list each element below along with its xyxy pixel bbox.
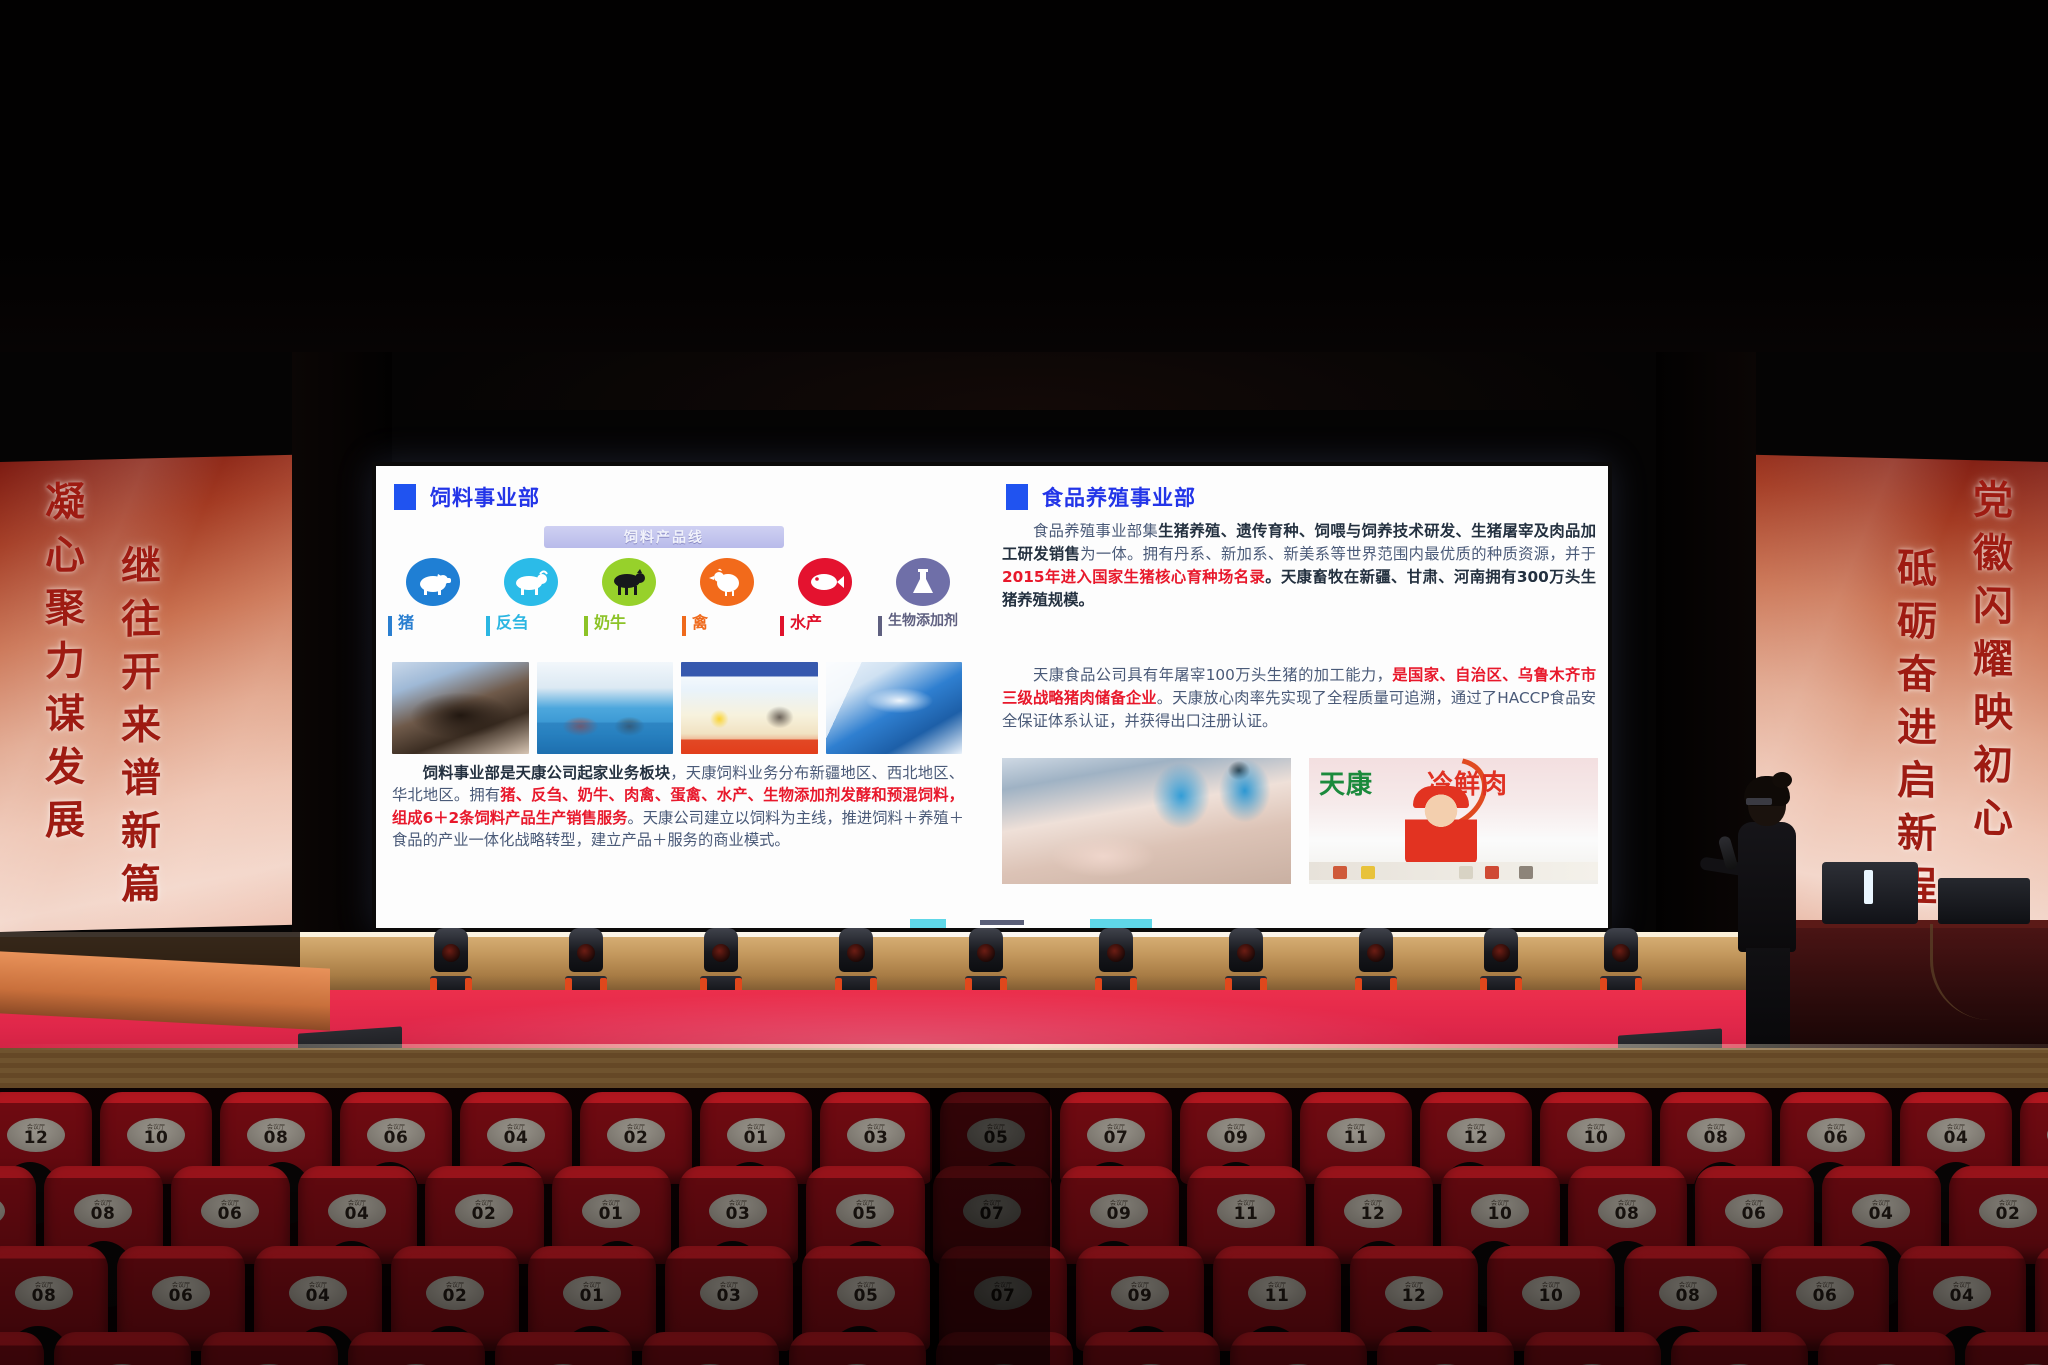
seat-plate-caption: 会议厅 <box>1110 1198 1128 1207</box>
seat-number-plate: 会议厅11 <box>1327 1118 1385 1152</box>
poultry-icon <box>700 558 754 606</box>
seat-plate-caption: 会议厅 <box>720 1280 738 1289</box>
seat-number-plate: 会议厅10 <box>1522 1276 1580 1310</box>
seat-plate-caption: 会议厅 <box>1707 1122 1725 1131</box>
seat-number-plate: 会议厅07 <box>1087 1118 1145 1152</box>
seat-plate-caption: 会议厅 <box>1405 1280 1423 1289</box>
audience-seat: 会议厅01 <box>348 1332 485 1365</box>
label-cell-aquaculture: 水产 <box>780 614 870 636</box>
moving-head-stage-light <box>430 928 472 994</box>
audience-seat: 会议厅06 <box>1671 1332 1808 1365</box>
seat-number-plate: 会议厅02 <box>426 1276 484 1310</box>
slide-bottom-markers <box>376 916 1608 928</box>
seat-plate-caption: 会议厅 <box>94 1198 112 1207</box>
projector-device <box>1822 862 1918 924</box>
counter-item <box>1485 866 1499 879</box>
seat-plate-caption: 会议厅 <box>221 1198 239 1207</box>
rp1-seg1: 为一体。拥有丹系、新加系、新美系等世界范围内最优质的种质资源，并于 <box>1080 545 1596 563</box>
seat-number-plate: 会议厅06 <box>1796 1276 1854 1310</box>
seat-plate-caption: 会议厅 <box>1953 1280 1971 1289</box>
presenter-legs <box>1746 948 1790 1052</box>
left-section-header: 饲料事业部 <box>394 482 540 512</box>
seat-plate-caption: 会议厅 <box>1587 1122 1605 1131</box>
product-icon-row <box>388 558 968 606</box>
feed-sacks-photo <box>826 662 963 754</box>
audience-seating: 会议厅12会议厅10会议厅08会议厅06会议厅04会议厅02会议厅01会议厅03… <box>0 1088 2048 1365</box>
counter-item <box>1361 866 1375 879</box>
seat-number-plate: 会议厅09 <box>1207 1118 1265 1152</box>
icon-cell-aquaculture <box>780 558 870 606</box>
label-bar <box>878 616 882 636</box>
audience-seat: 会议厅02 <box>201 1332 338 1365</box>
seat-plate-caption: 会议厅 <box>1745 1198 1763 1207</box>
rp1-red1: 2015年进入国家生猪核心育种场名录 <box>1002 568 1265 586</box>
label-cell-ruminant: 反刍 <box>486 614 576 636</box>
label-text-pig: 猪 <box>398 614 414 631</box>
audience-rail-light <box>0 1044 2048 1050</box>
right-panel-photo-row: 天康 冷鲜肉 <box>1002 758 1598 884</box>
seat-plate-caption: 会议厅 <box>1999 1198 2017 1207</box>
rp2-lead: 天康食品公司具有年屠宰100万头生猪的加工能力， <box>1033 666 1393 684</box>
moving-head-stage-light <box>1600 928 1642 994</box>
audience-seat: 会议厅06 <box>0 1332 44 1365</box>
seat-plate-caption: 会议厅 <box>35 1280 53 1289</box>
seat-plate-caption: 会议厅 <box>602 1198 620 1207</box>
seat-plate-caption: 会议厅 <box>1872 1198 1890 1207</box>
seat-number-plate: 会议厅08 <box>1659 1276 1717 1310</box>
seat-number-plate: 会议厅03 <box>700 1276 758 1310</box>
seat-number-plate: 会议厅06 <box>1807 1118 1865 1152</box>
seat-number-plate: 会议厅09 <box>1111 1276 1169 1310</box>
counter-item <box>1459 866 1473 879</box>
seat-plate-caption: 会议厅 <box>857 1280 875 1289</box>
seat-number-plate: 会议厅06 <box>201 1194 259 1228</box>
seat-number-plate: 会议厅11 <box>1217 1194 1275 1228</box>
presenter-body <box>1738 822 1796 952</box>
seat-number-plate: 会议厅03 <box>709 1194 767 1228</box>
icon-cell-bio-additive <box>878 558 968 606</box>
seat-number-plate: 会议厅02 <box>455 1194 513 1228</box>
label-text-dairy-cow: 奶牛 <box>594 614 626 631</box>
seat-plate-caption: 会议厅 <box>446 1280 464 1289</box>
label-text-aquaculture: 水产 <box>790 614 822 631</box>
seat-plate-caption: 会议厅 <box>867 1122 885 1131</box>
seat-number-plate: 会议厅01 <box>727 1118 785 1152</box>
left-banner-line1: 凝心聚力谋发展 <box>32 480 90 852</box>
slide-marker-cyan-left <box>910 919 946 928</box>
label-cell-pig: 猪 <box>388 614 478 636</box>
seat-plate-caption: 会议厅 <box>627 1122 645 1131</box>
left-banner-line2: 继往开来谱新篇 <box>108 544 166 916</box>
seat-number-plate: 会议厅08 <box>247 1118 305 1152</box>
audience-seat: 会议厅12 <box>1230 1332 1367 1365</box>
seat-plate-caption: 会议厅 <box>1827 1122 1845 1131</box>
seat-number-plate: 会议厅10 <box>1567 1118 1625 1152</box>
seat-plate-caption: 会议厅 <box>1347 1122 1365 1131</box>
tiankang-chilled-meat-brand-photo: 天康 冷鲜肉 <box>1309 758 1598 884</box>
label-bar <box>682 616 686 636</box>
sheep-feed-poster-photo <box>681 662 818 754</box>
label-cell-dairy-cow: 奶牛 <box>584 614 674 636</box>
slide-marker-cyan-right <box>1090 919 1152 928</box>
slide-right-panel: 食品养殖事业部 食品养殖事业部集生猪养殖、遗传育种、饲喂与饲养技术研发、生猪屠宰… <box>988 466 1608 928</box>
seat-plate-caption: 会议厅 <box>729 1198 747 1207</box>
seat-number-plate: 会议厅12 <box>7 1118 65 1152</box>
right-section-header: 食品养殖事业部 <box>1006 482 1196 512</box>
pork-processing-plant-photo <box>1002 758 1291 884</box>
seat-number-plate: 会议厅04 <box>289 1276 347 1310</box>
seat-number-plate: 会议厅08 <box>1687 1118 1745 1152</box>
label-bar <box>388 616 392 636</box>
label-bar <box>486 616 490 636</box>
moving-head-stage-light <box>965 928 1007 994</box>
seat-number-plate: 会议厅04 <box>328 1194 386 1228</box>
seat-plate-caption: 会议厅 <box>348 1198 366 1207</box>
product-line-ribbon: 饲料产品线 <box>544 526 784 548</box>
laptop-device <box>1938 878 2030 924</box>
seat-plate-caption: 会议厅 <box>387 1122 405 1131</box>
icon-cell-pig <box>388 558 478 606</box>
audience-aisle <box>930 1088 1050 1365</box>
feed-pellets-in-hands-photo <box>392 662 529 754</box>
seat-number-plate: 会议厅02 <box>1979 1194 2037 1228</box>
proscenium-top <box>0 0 2048 352</box>
label-cell-poultry: 禽 <box>682 614 772 636</box>
seat-number-plate: 会议厅05 <box>837 1276 895 1310</box>
seat-plate-caption: 会议厅 <box>172 1280 190 1289</box>
seat-plate-caption: 会议厅 <box>1467 1122 1485 1131</box>
seat-plate-caption: 会议厅 <box>1618 1198 1636 1207</box>
product-photo-strip <box>392 662 962 754</box>
counter-item <box>1333 866 1347 879</box>
seat-plate-caption: 会议厅 <box>1947 1122 1965 1131</box>
audience-seat: 会议厅04 <box>54 1332 191 1365</box>
seat-number-plate: 会议厅08 <box>74 1194 132 1228</box>
presenter-glasses-icon <box>1746 798 1772 805</box>
label-cell-bio-additive: 生物添加剂 <box>878 614 968 636</box>
presenter-speaker <box>1728 782 1806 1052</box>
seat-plate-caption: 会议厅 <box>1679 1280 1697 1289</box>
product-line-ribbon-label: 饲料产品线 <box>624 527 704 547</box>
audience-seat: 会议厅02 <box>1965 1332 2048 1365</box>
slide-left-panel: 饲料事业部 饲料产品线 <box>376 466 976 928</box>
label-bar <box>584 616 588 636</box>
moving-head-stage-light <box>1355 928 1397 994</box>
seat-plate-caption: 会议厅 <box>507 1122 525 1131</box>
seat-plate-caption: 会议厅 <box>1107 1122 1125 1131</box>
right-section-title: 食品养殖事业部 <box>1042 482 1196 512</box>
aquaculture-icon <box>798 558 852 606</box>
icon-cell-dairy-cow <box>584 558 674 606</box>
seat-number-plate: 会议厅12 <box>1447 1118 1505 1152</box>
seat-number-plate: 会议厅03 <box>847 1118 905 1152</box>
blue-square-marker <box>394 484 416 510</box>
presenter-hair-bun <box>1772 772 1792 788</box>
icon-cell-ruminant <box>486 558 576 606</box>
seat-plate-caption: 会议厅 <box>147 1122 165 1131</box>
seat-number-plate: 会议厅08 <box>15 1276 73 1310</box>
presentation-slide: 饲料事业部 饲料产品线 <box>376 466 1608 928</box>
seat-plate-caption: 会议厅 <box>583 1280 601 1289</box>
seat-number-plate: 会议厅04 <box>1927 1118 1985 1152</box>
seat-plate-caption: 会议厅 <box>1237 1198 1255 1207</box>
seat-plate-caption: 会议厅 <box>1491 1198 1509 1207</box>
seat-plate-caption: 会议厅 <box>267 1122 285 1131</box>
seat-number-plate: 会议厅05 <box>836 1194 894 1228</box>
left-body-bold-lead: 饲料事业部是天康公司起家业务板块 <box>423 764 671 782</box>
audience-seat: 会议厅07 <box>789 1332 926 1365</box>
seat-plate-caption: 会议厅 <box>747 1122 765 1131</box>
blue-square-marker <box>1006 484 1028 510</box>
seat-number-plate: 会议厅11 <box>1248 1276 1306 1310</box>
ruminant-icon <box>504 558 558 606</box>
projector-indicator-icon <box>1864 870 1873 904</box>
audience-seat: 会议厅10 <box>1377 1332 1514 1365</box>
seat-plate-caption: 会议厅 <box>475 1198 493 1207</box>
moving-head-stage-light <box>1225 928 1267 994</box>
moving-head-stage-light <box>835 928 877 994</box>
slide-marker-gray <box>980 920 1024 925</box>
audience-seat: 会议厅04 <box>1818 1332 1955 1365</box>
moving-head-stage-light <box>700 928 742 994</box>
seat-number-plate: 会议厅01 <box>582 1194 640 1228</box>
icon-cell-poultry <box>682 558 772 606</box>
brand-text-green: 天康 <box>1319 764 1373 801</box>
right-panel-paragraph-2: 天康食品公司具有年屠宰100万头生猪的加工能力，是国家、自治区、乌鲁木齐市三级战… <box>1002 664 1596 733</box>
child-figure <box>1405 792 1477 864</box>
moving-head-stage-light <box>1480 928 1522 994</box>
seat-number-plate: 会议厅12 <box>1344 1194 1402 1228</box>
audience-seat: 会议厅05 <box>642 1332 779 1365</box>
label-text-bio-additive: 生物添加剂 <box>888 614 958 629</box>
seat-number-plate: 会议厅10 <box>127 1118 185 1152</box>
seat-plate-caption: 会议厅 <box>1268 1280 1286 1289</box>
moving-head-stage-light <box>565 928 607 994</box>
product-label-row: 猪 反刍 奶牛 禽 水产 生物添加剂 <box>388 614 968 636</box>
audience-seat: 会议厅03 <box>495 1332 632 1365</box>
left-panel-body-text: 饲料事业部是天康公司起家业务板块，天康饲料业务分布新疆地区、西北地区、华北地区。… <box>392 762 964 851</box>
label-bar <box>780 616 784 636</box>
rp1-lead: 食品养殖事业部集 <box>1033 522 1159 540</box>
bio-additive-icon <box>896 558 950 606</box>
seat-number-plate: 会议厅02 <box>607 1118 665 1152</box>
pig-icon <box>406 558 460 606</box>
seat-number-plate: 会议厅06 <box>367 1118 425 1152</box>
seat-number-plate: 会议厅04 <box>1852 1194 1910 1228</box>
feed-additive-poster-photo <box>537 662 674 754</box>
seat-number-plate: 会议厅12 <box>1385 1276 1443 1310</box>
right-panel-paragraph-1: 食品养殖事业部集生猪养殖、遗传育种、饲喂与饲养技术研发、生猪屠宰及肉品加工研发销… <box>1002 520 1596 612</box>
label-text-poultry: 禽 <box>692 614 708 631</box>
right-banner-line1: 党徽闪耀映初心 <box>1960 478 2018 850</box>
seat-plate-caption: 会议厅 <box>309 1280 327 1289</box>
audience-seat: 会议厅11 <box>1083 1332 1220 1365</box>
seat-number-plate: 会议厅06 <box>152 1276 210 1310</box>
counter-item <box>1519 866 1533 879</box>
label-text-ruminant: 反刍 <box>496 614 528 631</box>
audience-seat: 会议厅08 <box>1524 1332 1661 1365</box>
seat-number-plate: 会议厅04 <box>1933 1276 1991 1310</box>
seat-plate-caption: 会议厅 <box>27 1122 45 1131</box>
seat-number-plate: 会议厅04 <box>487 1118 545 1152</box>
seat-number-plate: 会议厅10 <box>1471 1194 1529 1228</box>
seat-plate-caption: 会议厅 <box>1131 1280 1149 1289</box>
left-section-title: 饲料事业部 <box>430 482 540 512</box>
seat-plate-caption: 会议厅 <box>1542 1280 1560 1289</box>
conference-hall-scene: 凝心聚力谋发展 继往开来谱新篇 党徽闪耀映初心 砥砺奋进启新程 饲料事业部 饲料… <box>0 0 2048 1365</box>
seat-number-plate: 会议厅09 <box>1090 1194 1148 1228</box>
seat-plate-caption: 会议厅 <box>856 1198 874 1207</box>
product-counter <box>1309 862 1598 880</box>
seat-plate-caption: 会议厅 <box>1227 1122 1245 1131</box>
seat-number-plate: 会议厅01 <box>563 1276 621 1310</box>
moving-head-stage-light <box>1095 928 1137 994</box>
seat-number-plate: 会议厅08 <box>1598 1194 1656 1228</box>
seat-plate-caption: 会议厅 <box>1816 1280 1834 1289</box>
dairy-cow-icon <box>602 558 656 606</box>
seat-number-plate: 会议厅10 <box>0 1194 5 1228</box>
seat-plate-caption: 会议厅 <box>1364 1198 1382 1207</box>
left-wall-banner: 凝心聚力谋发展 继往开来谱新篇 <box>0 455 300 932</box>
seat-number-plate: 会议厅06 <box>1725 1194 1783 1228</box>
